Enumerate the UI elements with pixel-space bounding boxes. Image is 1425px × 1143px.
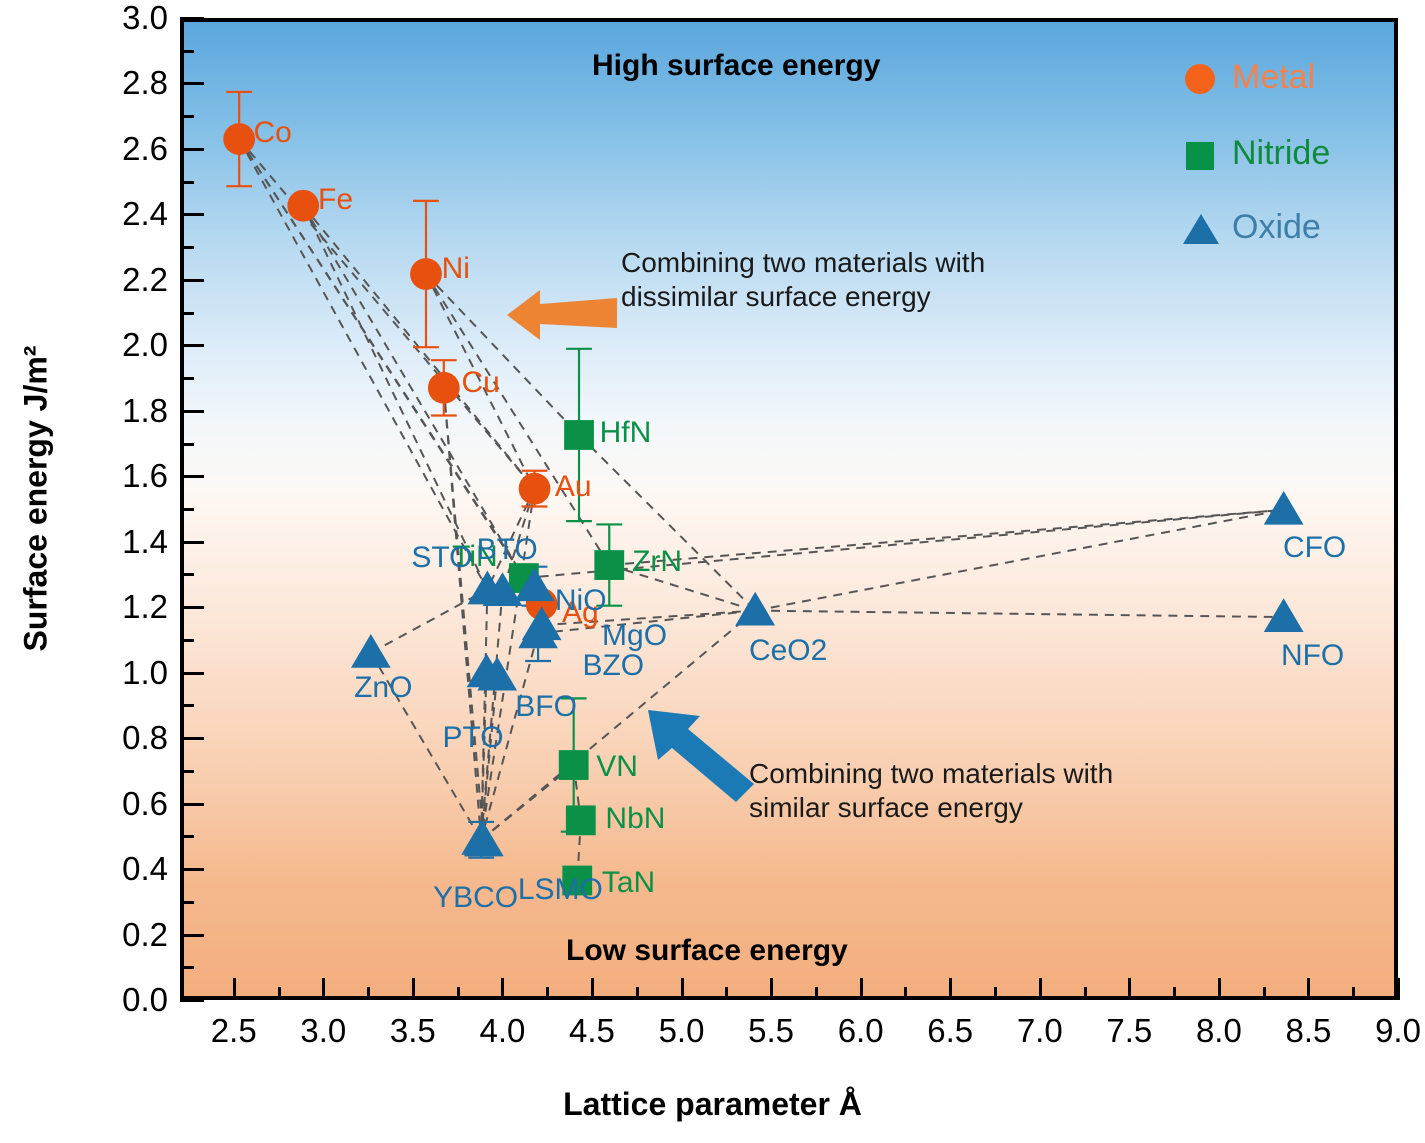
y-tick-label: 0.6	[72, 785, 168, 823]
x-tick-label: 3.5	[390, 1012, 436, 1050]
y-tick-minor	[180, 835, 194, 838]
y-tick-minor	[180, 639, 194, 642]
data-label-cfo: CFO	[1283, 531, 1346, 565]
legend-marker-nitride-icon	[1184, 140, 1216, 172]
x-tick-minor	[994, 987, 997, 1000]
x-tick-major	[949, 978, 952, 1000]
data-point-nfo[interactable]	[1264, 598, 1304, 632]
x-tick-major	[591, 978, 594, 1000]
y-tick-minor	[180, 377, 194, 380]
data-point-cfo[interactable]	[1264, 491, 1304, 525]
y-tick-label: 1.0	[72, 654, 168, 692]
dissimilar-note: Combining two materials with dissimilar …	[621, 246, 985, 313]
similar-note: Combining two materials with similar sur…	[749, 757, 1113, 824]
y-tick-minor	[180, 901, 194, 904]
data-label-nio: NiO	[555, 584, 607, 618]
x-tick-minor	[1352, 987, 1355, 1000]
y-tick-major	[180, 344, 204, 347]
data-point-nbn[interactable]	[566, 805, 596, 835]
x-tick-major	[1397, 978, 1400, 1000]
data-label-zno: ZnO	[354, 671, 412, 705]
y-tick-label: 1.2	[72, 588, 168, 626]
y-tick-minor	[180, 966, 194, 969]
x-tick-minor	[278, 987, 281, 1000]
x-tick-label: 5.0	[659, 1012, 705, 1050]
y-tick-major	[180, 737, 204, 740]
y-tick-major	[180, 17, 204, 20]
x-tick-label: 6.5	[927, 1012, 973, 1050]
x-tick-label: 6.0	[838, 1012, 884, 1050]
x-tick-label: 7.5	[1106, 1012, 1152, 1050]
x-tick-label: 7.0	[1017, 1012, 1063, 1050]
data-point-fe[interactable]	[287, 190, 319, 222]
x-tick-minor	[457, 987, 460, 1000]
y-tick-label: 0.0	[72, 981, 168, 1019]
x-tick-major	[412, 978, 415, 1000]
high-surface-energy-banner: High surface energy	[592, 49, 880, 83]
x-tick-major	[1128, 978, 1131, 1000]
y-tick-label: 2.4	[72, 195, 168, 233]
y-tick-label: 2.0	[72, 326, 168, 364]
x-tick-major	[1039, 978, 1042, 1000]
connector-line	[755, 611, 1283, 618]
y-tick-minor	[180, 573, 194, 576]
legend-label-metal: Metal	[1232, 58, 1315, 97]
y-tick-minor	[180, 246, 194, 249]
connector-line	[239, 139, 534, 489]
similar-note-line2: similar surface energy	[749, 791, 1113, 825]
x-tick-label: 8.0	[1196, 1012, 1242, 1050]
dissimilar-note-line1: Combining two materials with	[621, 246, 985, 280]
data-point-zrn[interactable]	[594, 550, 624, 580]
y-tick-minor	[180, 508, 194, 511]
data-point-ni[interactable]	[410, 258, 442, 290]
y-tick-major	[180, 541, 204, 544]
x-axis-title: Lattice parameter Å	[0, 1086, 1425, 1123]
x-tick-minor	[1263, 987, 1266, 1000]
x-tick-major	[681, 978, 684, 1000]
y-tick-label: 1.4	[72, 523, 168, 561]
y-tick-minor	[180, 770, 194, 773]
y-tick-major	[180, 148, 204, 151]
data-point-co[interactable]	[223, 123, 255, 155]
x-tick-label: 4.5	[569, 1012, 615, 1050]
data-label-vn: VN	[596, 750, 638, 784]
data-label-mgo: MgO	[602, 619, 667, 653]
x-tick-minor	[904, 987, 907, 1000]
x-tick-label: 4.0	[479, 1012, 525, 1050]
data-label-tan: TaN	[602, 866, 655, 900]
data-label-bto: BTO	[477, 533, 538, 567]
x-tick-minor	[1084, 987, 1087, 1000]
data-label-ni: Ni	[442, 252, 470, 286]
x-tick-minor	[815, 987, 818, 1000]
y-tick-minor	[180, 50, 194, 53]
data-label-pto: PTO	[443, 721, 504, 755]
y-tick-minor	[180, 181, 194, 184]
data-label-cu: Cu	[462, 366, 500, 400]
legend-label-nitride: Nitride	[1232, 134, 1330, 173]
y-tick-minor	[180, 443, 194, 446]
x-tick-label: 5.5	[748, 1012, 794, 1050]
y-tick-major	[180, 475, 204, 478]
legend-label-oxide: Oxide	[1232, 208, 1321, 247]
data-point-cu[interactable]	[428, 372, 460, 404]
connector-line	[755, 510, 1283, 611]
x-tick-major	[1307, 978, 1310, 1000]
data-label-bfo: BFO	[515, 690, 577, 724]
y-tick-major	[180, 803, 204, 806]
y-tick-major	[180, 213, 204, 216]
y-tick-major	[180, 279, 204, 282]
similar-arrow-icon	[646, 708, 756, 802]
connector-line	[239, 139, 524, 578]
x-tick-major	[501, 978, 504, 1000]
data-label-nfo: NFO	[1281, 639, 1344, 673]
similar-note-line1: Combining two materials with	[749, 757, 1113, 791]
x-tick-minor	[725, 987, 728, 1000]
dissimilar-arrow-icon	[507, 284, 617, 346]
x-tick-minor	[367, 987, 370, 1000]
y-tick-minor	[180, 312, 194, 315]
y-tick-major	[180, 82, 204, 85]
y-tick-label: 0.2	[72, 916, 168, 954]
data-label-au: Au	[555, 470, 592, 504]
y-tick-label: 0.4	[72, 850, 168, 888]
data-point-zno[interactable]	[351, 634, 391, 668]
x-tick-label: 3.0	[300, 1012, 346, 1050]
data-label-bzo: BZO	[582, 649, 644, 683]
dissimilar-note-line2: dissimilar surface energy	[621, 280, 985, 314]
y-tick-label: 2.8	[72, 64, 168, 102]
connector-line	[371, 589, 488, 652]
y-tick-minor	[180, 704, 194, 707]
x-tick-minor	[636, 987, 639, 1000]
y-tick-major	[180, 410, 204, 413]
x-tick-major	[860, 978, 863, 1000]
x-tick-major	[322, 978, 325, 1000]
data-point-au[interactable]	[519, 473, 551, 505]
y-tick-label: 1.6	[72, 457, 168, 495]
data-label-lsmo: LSMO	[518, 873, 603, 907]
data-label-fe: Fe	[318, 183, 353, 217]
connector-line	[609, 510, 1283, 565]
plot-area: High surface energy Low surface energy C…	[180, 18, 1398, 1000]
connector-line	[239, 139, 487, 589]
y-tick-label: 2.2	[72, 261, 168, 299]
data-label-co: Co	[254, 116, 292, 150]
y-tick-label: 1.8	[72, 392, 168, 430]
data-label-sto: STO	[411, 541, 472, 575]
y-tick-major	[180, 606, 204, 609]
y-tick-minor	[180, 115, 194, 118]
data-label-ybco: YBCO	[433, 881, 518, 915]
x-tick-label: 8.5	[1286, 1012, 1332, 1050]
x-tick-minor	[546, 987, 549, 1000]
y-tick-major	[180, 999, 204, 1002]
x-tick-major	[233, 978, 236, 1000]
legend-marker-oxide-icon	[1182, 212, 1220, 246]
data-label-hfn: HfN	[600, 416, 652, 450]
x-tick-minor	[1173, 987, 1176, 1000]
connector-line	[444, 388, 484, 842]
data-point-hfn[interactable]	[564, 420, 594, 450]
y-tick-label: 3.0	[72, 0, 168, 37]
y-tick-major	[180, 934, 204, 937]
data-label-ceo2: CeO2	[749, 634, 827, 668]
legend-marker-metal-icon	[1183, 62, 1217, 96]
x-tick-label: 2.5	[211, 1012, 257, 1050]
y-tick-major	[180, 672, 204, 675]
y-tick-label: 2.6	[72, 130, 168, 168]
y-tick-major	[180, 868, 204, 871]
data-label-nbn: NbN	[605, 802, 665, 836]
chart-root: High surface energy Low surface energy C…	[0, 0, 1425, 1143]
x-tick-label: 9.0	[1375, 1012, 1421, 1050]
low-surface-energy-banner: Low surface energy	[566, 934, 848, 968]
data-point-vn[interactable]	[559, 750, 589, 780]
x-tick-major	[1218, 978, 1221, 1000]
x-tick-major	[770, 978, 773, 1000]
y-axis-title: Surface energy J/m²	[18, 249, 55, 749]
y-tick-label: 0.8	[72, 719, 168, 757]
data-label-zrn: ZrN	[632, 545, 682, 579]
